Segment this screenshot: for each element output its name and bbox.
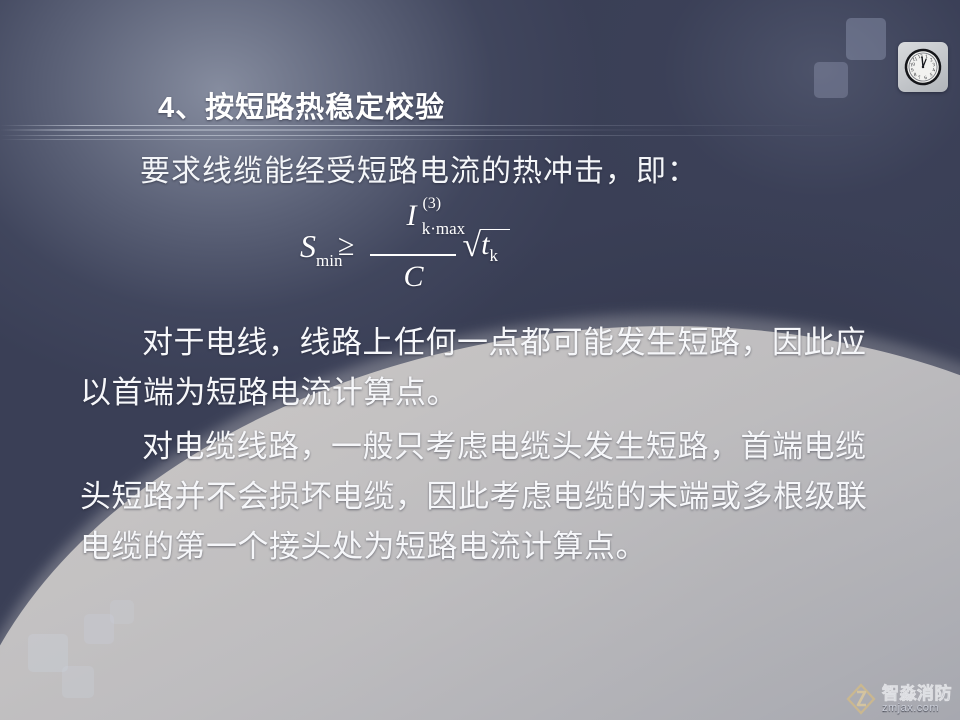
- watermark-brand: 智淼消防: [882, 685, 952, 702]
- formula-numerator: I(3)k·max: [404, 199, 422, 235]
- watermark: 智淼消防 zmjax.com: [844, 682, 952, 716]
- formula-numerator-var: I: [406, 199, 416, 232]
- formula-lhs: Smin: [300, 228, 316, 265]
- lead-text: 要求线缆能经受短路电流的热冲击，即：: [140, 146, 698, 190]
- zhisen-logo-icon: [844, 682, 878, 716]
- formula-numerator-superscript: (3): [422, 195, 441, 213]
- body-paragraph-1: 对于电线，线路上任何一点都可能发生短路，因此应以首端为短路电流计算点。: [80, 318, 896, 418]
- formula-lhs-var: S: [300, 228, 316, 264]
- formula-radical-subscript: k: [489, 246, 498, 265]
- formula-radical: √tk: [462, 227, 504, 266]
- page-title: 4、按短路热稳定校验: [158, 84, 445, 126]
- formula-fraction: I(3)k·max C: [370, 199, 456, 294]
- formula-numerator-subscript: k·max: [422, 219, 465, 239]
- watermark-url: zmjax.com: [882, 703, 952, 714]
- formula-lhs-subscript: min: [316, 251, 342, 271]
- formula-block: Smin ≥ I(3)k·max C √tk: [300, 200, 504, 292]
- slide-content: 4、按短路热稳定校验 要求线缆能经受短路电流的热冲击，即： Smin ≥ I(3…: [0, 0, 960, 720]
- watermark-text: 智淼消防 zmjax.com: [882, 685, 952, 714]
- formula-radical-sign: √: [462, 227, 481, 264]
- formula-denominator: C: [403, 258, 423, 294]
- formula-fraction-bar: [370, 254, 456, 256]
- slide-canvas: 12 1 2 3 4 5 6 7 8 9 10 11 4、按: [0, 0, 960, 720]
- formula-radical-bar: [480, 229, 510, 231]
- body-paragraph-2: 对电缆线路，一般只考虑电缆头发生短路，首端电缆头短路并不会损坏电缆，因此考虑电缆…: [80, 422, 896, 572]
